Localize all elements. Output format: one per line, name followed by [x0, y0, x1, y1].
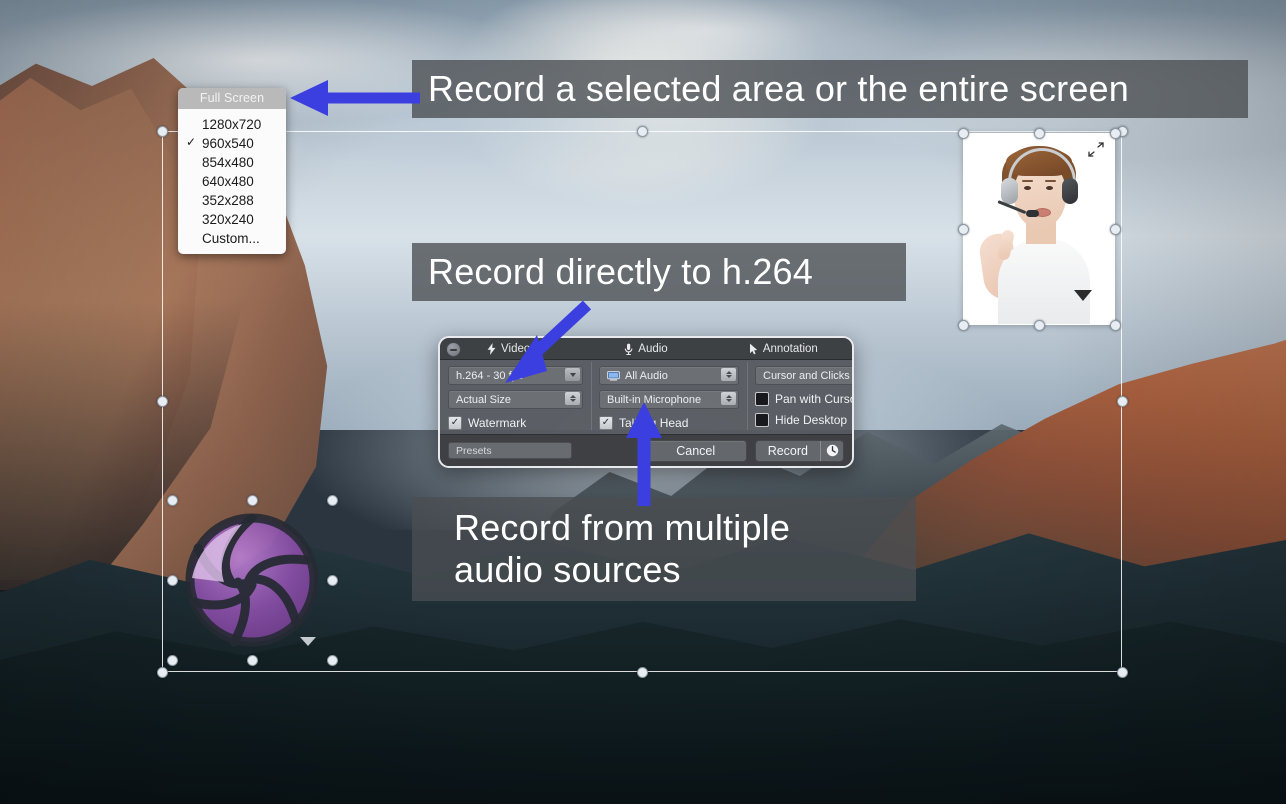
computer-audio-icon: [607, 371, 620, 381]
watermark-overlay[interactable]: [172, 500, 332, 660]
watermark-handle-top-center[interactable]: [247, 495, 258, 506]
callout-2-text: Record directly to h.264: [428, 251, 813, 293]
webcam-frame: [963, 133, 1115, 325]
size-menu-label-960x540: 960x540: [202, 136, 254, 151]
collapse-button[interactable]: [446, 342, 461, 357]
size-menu-check-960x540: ✓: [186, 134, 196, 151]
arrow-to-audio-section: [620, 398, 668, 508]
arrow-to-size-menu: [284, 78, 424, 118]
callout-selected-area: Record a selected area or the entire scr…: [412, 60, 1248, 118]
watermark-caret-down-icon[interactable]: [300, 637, 316, 646]
column-header-annotation: Annotation: [715, 343, 852, 355]
size-menu-label-custom: Custom...: [202, 231, 260, 246]
watermark-handle-middle-left[interactable]: [167, 575, 178, 586]
pan-with-cursor-label: Pan with Cursor: [775, 392, 854, 406]
webcam-handle-top-center[interactable]: [1034, 128, 1045, 139]
watermark-checkbox[interactable]: ✓: [448, 416, 462, 430]
size-menu-item-320x240[interactable]: 320x240: [178, 210, 286, 229]
video-size-value: Actual Size: [456, 394, 511, 406]
callout-3-line1: Record from multiple: [454, 507, 790, 549]
webcam-handle-top-right[interactable]: [1110, 128, 1121, 139]
selection-handle-bottom-center[interactable]: [637, 667, 648, 678]
size-menu-label-854x480: 854x480: [202, 155, 254, 170]
webcam-handle-middle-left[interactable]: [958, 224, 969, 235]
clock-icon: [826, 444, 839, 457]
webcam-handle-bottom-left[interactable]: [958, 320, 969, 331]
cursor-icon: [749, 343, 758, 355]
webcam-caret-down-icon[interactable]: [1074, 290, 1092, 301]
talking-head-checkbox[interactable]: ✓: [599, 416, 613, 430]
size-menu-item-1280x720[interactable]: 1280x720: [178, 115, 286, 134]
presets-select[interactable]: Presets: [448, 442, 572, 459]
record-timer-button[interactable]: [820, 441, 843, 461]
screen: Full Screen 1280x720 ✓ 960x540 854x480 6…: [0, 0, 1286, 804]
webcam-handle-bottom-right[interactable]: [1110, 320, 1121, 331]
watermark-handle-bottom-center[interactable]: [247, 655, 258, 666]
video-size-select[interactable]: Actual Size: [448, 390, 583, 409]
watermark-handle-bottom-left[interactable]: [167, 655, 178, 666]
selection-handle-middle-right[interactable]: [1117, 396, 1128, 407]
aperture-logo-icon: [172, 500, 332, 660]
audio-column: All Audio Built-in Microphone ✓ Talking …: [591, 360, 747, 432]
size-menu-item-960x540[interactable]: ✓ 960x540: [178, 134, 286, 153]
size-menu-item-custom[interactable]: Custom...: [178, 229, 286, 248]
webcam-resize-diagonal-icon[interactable]: [1087, 142, 1105, 158]
size-menu-item-640x480[interactable]: 640x480: [178, 172, 286, 191]
watermark-handle-top-right[interactable]: [327, 495, 338, 506]
webcam-video-image: [964, 134, 1115, 325]
talking-head-overlay[interactable]: [963, 133, 1115, 325]
audio-source-value: All Audio: [625, 370, 668, 382]
stepper-icon[interactable]: [565, 392, 580, 405]
record-button-group: Record: [755, 440, 844, 462]
callout-h264: Record directly to h.264: [412, 243, 906, 301]
pan-with-cursor-checkbox[interactable]: [755, 392, 769, 406]
stepper-icon[interactable]: [721, 368, 736, 381]
selection-handle-bottom-left[interactable]: [157, 667, 168, 678]
arrow-to-codec-popup: [495, 295, 605, 390]
watermark-handle-top-left[interactable]: [167, 495, 178, 506]
column-title-annotation: Annotation: [763, 343, 818, 355]
webcam-handle-bottom-center[interactable]: [1034, 320, 1045, 331]
webcam-handle-top-left[interactable]: [958, 128, 969, 139]
size-menu-header[interactable]: Full Screen: [178, 88, 286, 109]
selection-handle-top-left[interactable]: [157, 126, 168, 137]
stepper-icon[interactable]: [721, 392, 736, 405]
watermark-checkbox-label: Watermark: [468, 416, 526, 430]
selection-handle-middle-left[interactable]: [157, 396, 168, 407]
watermark-handle-middle-right[interactable]: [327, 575, 338, 586]
size-menu-list: 1280x720 ✓ 960x540 854x480 640x480 352x2…: [178, 109, 286, 248]
size-menu-item-854x480[interactable]: 854x480: [178, 153, 286, 172]
hide-desktop-label: Hide Desktop: [775, 413, 847, 427]
cursor-mode-select[interactable]: Cursor and Clicks: [755, 366, 854, 385]
callout-audio-sources: Record from multiple audio sources: [412, 497, 916, 601]
watermark-handle-bottom-right[interactable]: [327, 655, 338, 666]
annotation-column: Cursor and Clicks Pan with Cursor Hide D…: [747, 360, 854, 432]
pan-with-cursor-row[interactable]: Pan with Cursor: [755, 390, 854, 407]
size-menu-label-640x480: 640x480: [202, 174, 254, 189]
selection-handle-top-center[interactable]: [637, 126, 648, 137]
column-title-audio: Audio: [638, 343, 667, 355]
callout-1-text: Record a selected area or the entire scr…: [428, 68, 1129, 110]
record-button[interactable]: Record: [756, 441, 820, 461]
audio-source-select[interactable]: All Audio: [599, 366, 739, 385]
hide-desktop-row[interactable]: Hide Desktop: [755, 411, 854, 428]
size-menu-item-352x288[interactable]: 352x288: [178, 191, 286, 210]
webcam-handle-middle-right[interactable]: [1110, 224, 1121, 235]
size-menu-label-320x240: 320x240: [202, 212, 254, 227]
mic-icon: [624, 343, 633, 355]
size-menu-label-352x288: 352x288: [202, 193, 254, 208]
callout-3-line2: audio sources: [454, 549, 681, 591]
presets-value: Presets: [456, 445, 492, 457]
hide-desktop-checkbox[interactable]: [755, 413, 769, 427]
cursor-mode-value: Cursor and Clicks: [763, 370, 850, 382]
selection-handle-bottom-right[interactable]: [1117, 667, 1128, 678]
screen-size-menu[interactable]: Full Screen 1280x720 ✓ 960x540 854x480 6…: [178, 88, 286, 254]
watermark-checkbox-row[interactable]: ✓ Watermark: [448, 414, 583, 431]
size-menu-label-1280x720: 1280x720: [202, 117, 261, 132]
